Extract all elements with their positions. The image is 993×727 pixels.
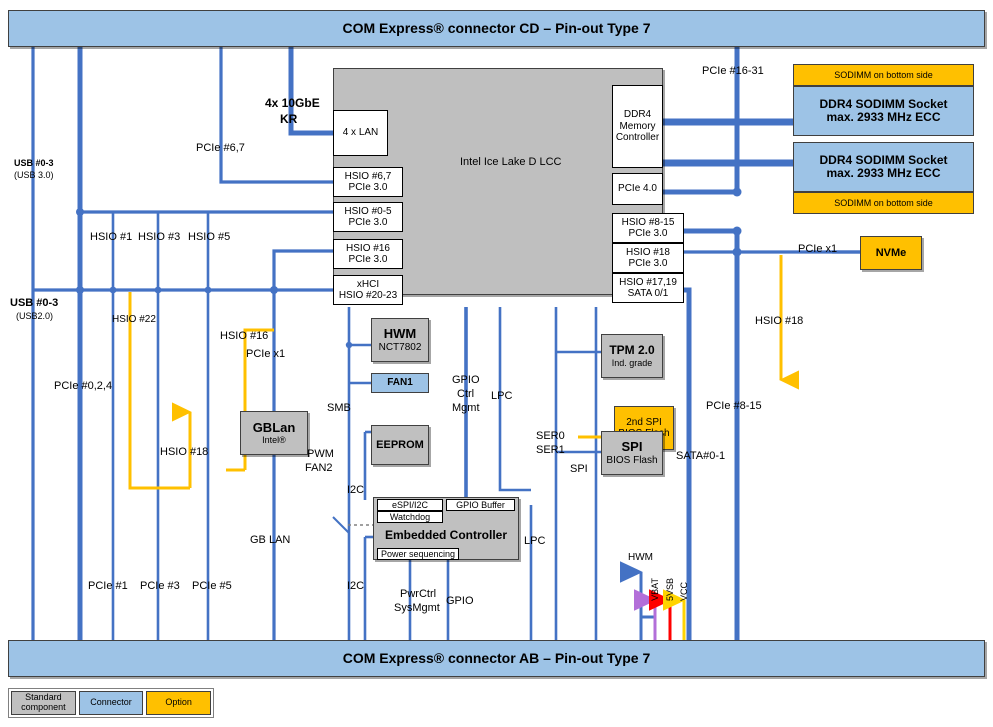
hsio-0-5-line2: PCIe 3.0 [349, 217, 388, 229]
label-ser1: SER1 [536, 444, 565, 456]
hsio-17-19-line2: SATA 0/1 [628, 288, 669, 300]
xhci-line1: xHCI [357, 279, 379, 291]
label-hsio-1: HSIO #1 [90, 231, 132, 243]
hwm-block[interactable]: HWM NCT7802 [371, 318, 429, 362]
label-pcie-x1-right: PCIe x1 [798, 243, 837, 255]
label-hsio-18-right: HSIO #18 [755, 315, 803, 327]
ddr4-memory-controller-port[interactable]: DDR4 Memory Controller [612, 85, 663, 168]
pcie-40-port[interactable]: PCIe 4.0 [612, 173, 663, 205]
fan1-label: FAN1 [387, 377, 413, 388]
hwm-title: HWM [384, 327, 417, 342]
label-i2c-upper: I2C [347, 484, 364, 496]
label-sysmgmt: SysMgmt [394, 602, 440, 614]
hsio-0-5-port[interactable]: HSIO #0-5 PCIe 3.0 [333, 202, 403, 232]
sodimm-note-bottom: SODIMM on bottom side [793, 192, 974, 214]
label-pcie-8-15: PCIe #8-15 [706, 400, 762, 412]
label-usb2: USB #0-3 [10, 297, 58, 309]
label-pwrctrl: PwrCtrl [400, 588, 436, 600]
label-gpio-ctrl-2: Ctrl [457, 388, 474, 400]
hsio-16-line1: HSIO #16 [346, 243, 390, 255]
lan-port[interactable]: 4 x LAN [333, 110, 388, 156]
pcie40-line1: PCIe 4.0 [618, 183, 657, 195]
hwm-part-number: NCT7802 [379, 342, 422, 353]
spi-bios-flash-block[interactable]: SPI BIOS Flash [601, 431, 663, 475]
spi-title: SPI [622, 440, 643, 455]
connector-cd-label: COM Express® connector CD – Pin-out Type… [343, 21, 651, 37]
label-ser0: SER0 [536, 430, 565, 442]
hsio-0-5-line1: HSIO #0-5 [344, 206, 391, 218]
label-5vsb: 5VSB [665, 578, 675, 601]
hsio-16-line2: PCIe 3.0 [349, 254, 388, 266]
label-pcie-5: PCIe #5 [192, 580, 232, 592]
spi-sub: BIOS Flash [606, 455, 657, 466]
ddr4-line1: DDR4 [624, 109, 651, 121]
hsio-6-7-port[interactable]: HSIO #6,7 PCIe 3.0 [333, 167, 403, 197]
ec-title: Embedded Controller [385, 529, 507, 542]
legend-option: Option [146, 691, 211, 715]
gblan-block[interactable]: GBLan Intel® [240, 411, 308, 455]
label-hsio-5: HSIO #5 [188, 231, 230, 243]
soc-label: Intel Ice Lake D LCC [460, 156, 562, 168]
label-10gbe-kr-1: 4x 10GbE [265, 96, 320, 110]
ec-espi-i2c-sub[interactable]: eSPI/I2C [377, 499, 443, 511]
tpm-title: TPM 2.0 [609, 344, 654, 357]
hsio-18-port[interactable]: HSIO #18 PCIe 3.0 [612, 243, 684, 273]
hsio-8-15-port[interactable]: HSIO #8-15 PCIe 3.0 [612, 213, 684, 243]
com-express-connector-ab[interactable]: COM Express® connector AB – Pin-out Type… [8, 640, 985, 677]
hsio-8-15-line2: PCIe 3.0 [629, 228, 668, 240]
ec-watchdog-sub[interactable]: Watchdog [377, 511, 443, 523]
label-lpc-lower: LPC [524, 535, 545, 547]
xhci-port[interactable]: xHCI HSIO #20-23 [333, 275, 403, 305]
legend-standard-component: Standard component [11, 691, 76, 715]
hsio-6-7-line2: PCIe 3.0 [349, 182, 388, 194]
sodimm1-line1: DDR4 SODIMM Socket [819, 98, 947, 111]
eeprom-block[interactable]: EEPROM [371, 425, 429, 465]
label-spi-net: SPI [570, 463, 588, 475]
label-pcie-0-2-4: PCIe #0,2,4 [54, 380, 112, 392]
label-hsio-18-left: HSIO #18 [160, 446, 208, 458]
ddr4-line2: Memory [619, 121, 655, 133]
nvme-block[interactable]: NVMe [860, 236, 922, 270]
label-hwm-arrow: HWM [628, 552, 653, 563]
legend: Standard component Connector Option [8, 688, 214, 718]
sodimm-note-top: SODIMM on bottom side [793, 64, 974, 86]
tpm-block[interactable]: TPM 2.0 Ind. grade [601, 334, 663, 378]
label-vcc: VCC [679, 582, 689, 601]
nvme-label: NVMe [876, 247, 907, 259]
hsio-17-19-line1: HSIO #17,19 [619, 277, 677, 289]
ddr4-line3: Controller [616, 132, 659, 144]
hsio-18-line2: PCIe 3.0 [629, 258, 668, 270]
label-gpio-bottom: GPIO [446, 595, 474, 607]
gblan-title: GBLan [253, 421, 296, 436]
label-gpio-ctrl-3: Mgmt [452, 402, 480, 414]
ddr4-sodimm-socket-2[interactable]: DDR4 SODIMM Socket max. 2933 MHz ECC [793, 142, 974, 192]
fan1-connector[interactable]: FAN1 [371, 373, 429, 393]
label-hsio-22: HSIO #22 [112, 314, 156, 325]
xhci-line2: HSIO #20-23 [339, 290, 397, 302]
label-pcie-6-7: PCIe #6,7 [196, 142, 245, 154]
hsio-16-port[interactable]: HSIO #16 PCIe 3.0 [333, 239, 403, 269]
sodimm1-line2: max. 2933 MHz ECC [826, 111, 940, 124]
eeprom-label: EEPROM [376, 439, 424, 451]
label-sata-0-1: SATA#0-1 [676, 450, 725, 462]
hsio-17-19-port[interactable]: HSIO #17,19 SATA 0/1 [612, 273, 684, 303]
label-gpio-ctrl-1: GPIO [452, 374, 480, 386]
sodimm2-line1: DDR4 SODIMM Socket [819, 154, 947, 167]
hsio-18-line1: HSIO #18 [626, 247, 670, 259]
label-hsio-16: HSIO #16 [220, 330, 268, 342]
legend-connector: Connector [79, 691, 144, 715]
gblan-vendor: Intel® [262, 435, 286, 445]
label-gb-lan: GB LAN [250, 534, 290, 546]
hsio-8-15-line1: HSIO #8-15 [622, 217, 675, 229]
spi2-line1: 2nd SPI [626, 417, 662, 428]
connector-ab-label: COM Express® connector AB – Pin-out Type… [343, 651, 650, 667]
label-10gbe-kr-2: KR [280, 112, 297, 126]
ec-power-sequencing-sub[interactable]: Power sequencing [377, 548, 459, 560]
label-usb3-sub: (USB 3.0) [14, 170, 54, 180]
label-i2c-lower: I2C [347, 580, 364, 592]
label-pcie-1: PCIe #1 [88, 580, 128, 592]
label-pcie-x1-left: PCIe x1 [246, 348, 285, 360]
label-pwm: PWM [307, 448, 334, 460]
ddr4-sodimm-socket-1[interactable]: DDR4 SODIMM Socket max. 2933 MHz ECC [793, 86, 974, 136]
label-usb2-sub: (USB2.0) [16, 311, 53, 321]
label-pcie-3: PCIe #3 [140, 580, 180, 592]
tpm-grade: Ind. grade [612, 358, 653, 368]
label-hsio-3: HSIO #3 [138, 231, 180, 243]
label-smb: SMB [327, 402, 351, 414]
com-express-connector-cd[interactable]: COM Express® connector CD – Pin-out Type… [8, 10, 985, 47]
label-lpc-upper: LPC [491, 390, 512, 402]
hsio-6-7-line1: HSIO #6,7 [345, 171, 392, 183]
lan-port-line1: 4 x LAN [343, 127, 379, 139]
label-fan2: FAN2 [305, 462, 333, 474]
ec-gpio-buffer-sub[interactable]: GPIO Buffer [446, 499, 515, 511]
sodimm2-line2: max. 2933 MHz ECC [826, 167, 940, 180]
label-usb3: USB #0-3 [14, 158, 54, 168]
label-pcie-16-31: PCIe #16-31 [702, 65, 764, 77]
block-diagram-canvas: COM Express® connector CD – Pin-out Type… [0, 0, 993, 727]
label-vbat: VBAT [650, 578, 660, 601]
